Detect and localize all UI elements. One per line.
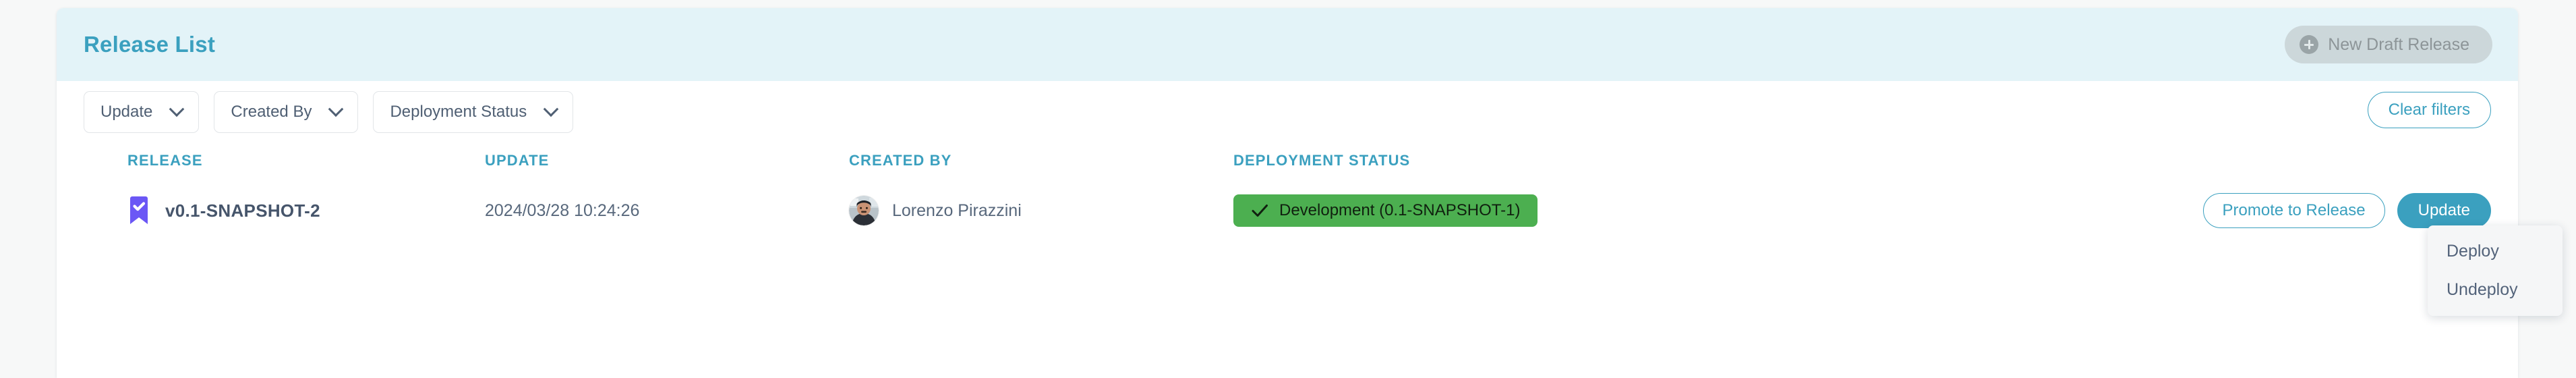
clear-filters-button[interactable]: Clear filters [2368, 92, 2491, 128]
created-by-cell: Lorenzo Pirazzini [849, 196, 1233, 225]
filter-deployment-status[interactable]: Deployment Status [373, 91, 573, 133]
filter-update[interactable]: Update [84, 91, 199, 133]
check-icon [1251, 202, 1268, 219]
column-header-release: RELEASE [127, 152, 485, 169]
release-list-card: Release List New Draft Release Update Cr… [57, 8, 2518, 378]
deployment-status-cell: Development (0.1-SNAPSHOT-1) [1233, 194, 2029, 227]
filter-bar: Update Created By Deployment Status Clea… [57, 81, 2518, 143]
filter-deployment-status-label: Deployment Status [390, 103, 527, 122]
filter-created-by-label: Created By [231, 103, 312, 122]
bookmark-check-icon[interactable] [127, 196, 150, 225]
page-root: Release List New Draft Release Update Cr… [0, 0, 2576, 378]
new-draft-release-button[interactable]: New Draft Release [2285, 26, 2492, 63]
table-header-row: RELEASE UPDATE CREATED BY DEPLOYMENT STA… [57, 143, 2518, 178]
release-name: v0.1-SNAPSHOT-2 [165, 200, 320, 221]
page-title: Release List [84, 32, 215, 57]
update-button[interactable]: Update [2397, 193, 2491, 228]
column-header-created-by: CREATED BY [849, 152, 1233, 169]
status-badge-label: Development (0.1-SNAPSHOT-1) [1279, 201, 1520, 220]
avatar [849, 196, 879, 225]
column-header-update: UPDATE [485, 152, 849, 169]
promote-to-release-button[interactable]: Promote to Release [2203, 193, 2385, 228]
release-cell: v0.1-SNAPSHOT-2 [127, 196, 485, 225]
new-draft-release-label: New Draft Release [2328, 35, 2469, 55]
row-actions: Promote to Release Update [2029, 193, 2491, 228]
chevron-down-icon [328, 101, 344, 117]
filter-created-by[interactable]: Created By [214, 91, 358, 133]
card-header: Release List New Draft Release [57, 8, 2518, 81]
table-row: v0.1-SNAPSHOT-2 2024/03/28 10:24:26 [57, 178, 2518, 243]
chevron-down-icon [544, 101, 559, 117]
status-badge[interactable]: Development (0.1-SNAPSHOT-1) [1233, 194, 1538, 227]
release-table: RELEASE UPDATE CREATED BY DEPLOYMENT STA… [57, 143, 2518, 243]
release-update-timestamp: 2024/03/28 10:24:26 [485, 201, 849, 221]
menu-item-undeploy[interactable]: Undeploy [2428, 271, 2563, 309]
filter-update-label: Update [100, 103, 152, 122]
chevron-down-icon [169, 101, 185, 117]
column-header-deployment-status: DEPLOYMENT STATUS [1233, 152, 2029, 169]
update-dropdown-menu: Deploy Undeploy [2428, 225, 2563, 316]
menu-item-deploy[interactable]: Deploy [2428, 232, 2563, 271]
plus-circle-icon [2300, 35, 2318, 54]
creator-name: Lorenzo Pirazzini [892, 201, 1022, 221]
